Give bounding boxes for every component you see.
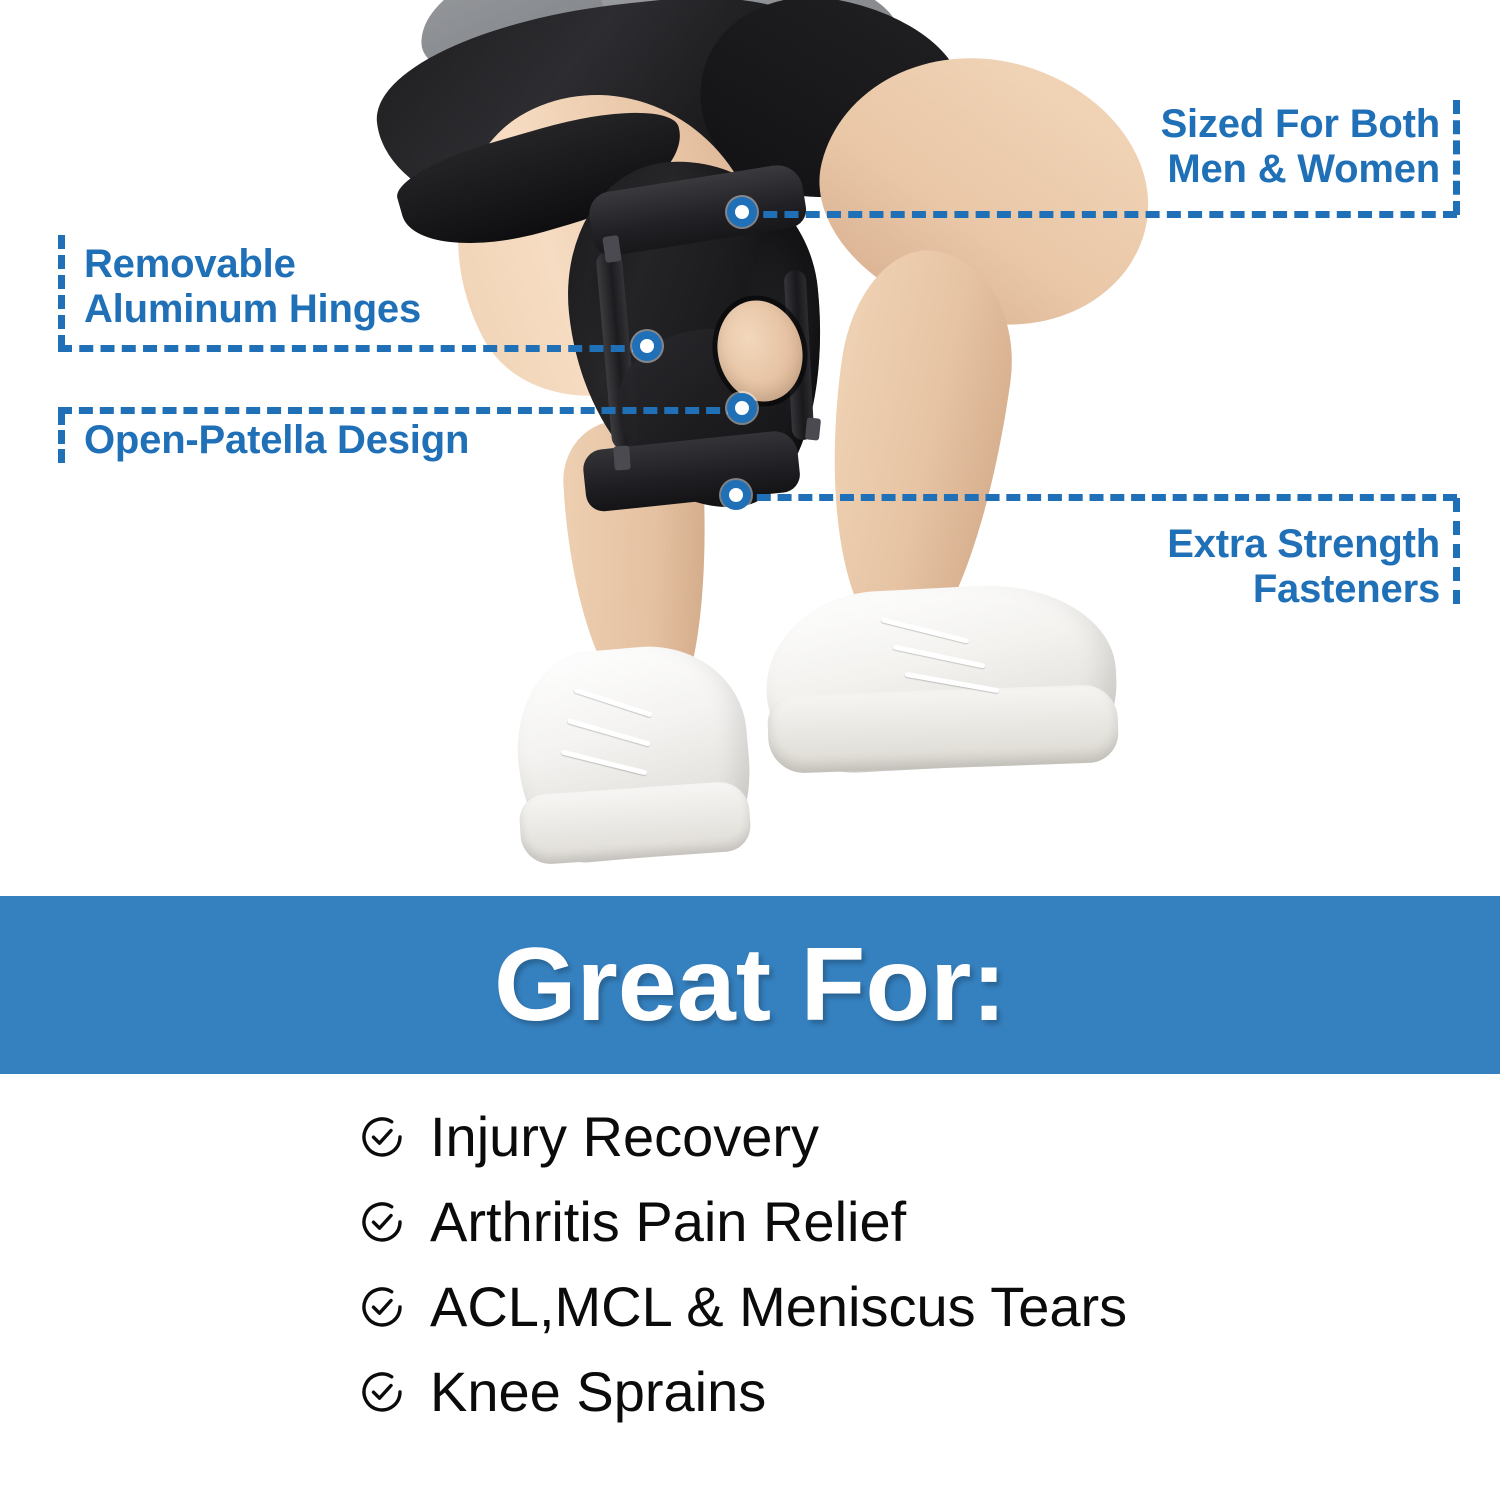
- check-circle-icon: [356, 1196, 408, 1248]
- callout-dot: [632, 331, 662, 361]
- callout-label: Removable Aluminum Hinges: [84, 242, 604, 332]
- fastener-clip-bottom-right: [805, 417, 821, 440]
- check-circle-icon: [356, 1111, 408, 1163]
- callout-line-horizontal: [58, 345, 646, 352]
- callout-label: Extra Strength Fasteners: [1000, 522, 1440, 612]
- callout-label: Open-Patella Design: [84, 418, 604, 463]
- banner-title: Great For:: [494, 926, 1007, 1045]
- sneaker-left-sole: [518, 780, 752, 866]
- check-circle-icon: [356, 1366, 408, 1418]
- list-item-label: ACL,MCL & Meniscus Tears: [430, 1279, 1127, 1335]
- benefits-list: Injury Recovery Arthritis Pain Relief AC…: [0, 1094, 1500, 1434]
- check-circle-icon: [356, 1281, 408, 1333]
- callout-line-horizontal: [736, 494, 1457, 501]
- sneaker-right-sole: [767, 684, 1120, 774]
- list-item-label: Knee Sprains: [430, 1364, 766, 1420]
- callout-dot: [721, 480, 751, 510]
- list-item: Injury Recovery: [0, 1094, 1500, 1179]
- product-infographic: Sized For Both Men & Women Removable Alu…: [0, 0, 1500, 1500]
- list-item: Knee Sprains: [0, 1349, 1500, 1434]
- list-item: Arthritis Pain Relief: [0, 1179, 1500, 1264]
- callout-label: Sized For Both Men & Women: [1000, 102, 1440, 192]
- fastener-clip-top: [602, 235, 621, 263]
- fastener-clip-bottom-left: [613, 445, 631, 470]
- callout-line-vertical: [58, 411, 65, 463]
- great-for-banner: Great For:: [0, 896, 1500, 1074]
- callout-dot: [727, 197, 757, 227]
- callout-line-vertical: [1453, 100, 1460, 215]
- list-item-label: Arthritis Pain Relief: [430, 1194, 906, 1250]
- product-photo: Sized For Both Men & Women Removable Alu…: [0, 0, 1500, 896]
- callout-line-vertical: [1453, 498, 1460, 604]
- callout-dot: [727, 393, 757, 423]
- callout-line-horizontal: [742, 211, 1457, 218]
- callout-line-vertical: [58, 235, 65, 349]
- callout-line-horizontal: [58, 407, 741, 414]
- list-item-label: Injury Recovery: [430, 1109, 819, 1165]
- list-item: ACL,MCL & Meniscus Tears: [0, 1264, 1500, 1349]
